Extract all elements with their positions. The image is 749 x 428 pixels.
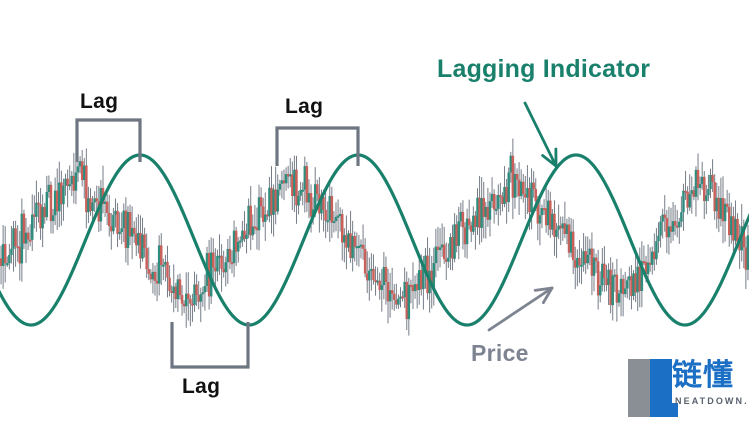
- chart-canvas: Lagging Indicator Lag Lag Lag Price 链懂 N…: [0, 0, 749, 428]
- annotation-arrow-1: [525, 103, 556, 166]
- lag-brackets: [77, 120, 358, 367]
- logo-wordmark: 链懂: [672, 360, 734, 392]
- logo-domain-text: NEATDOWN.COM: [675, 396, 749, 406]
- lagging-indicator-line: [0, 155, 749, 325]
- lagging-indicator-title: Lagging Indicator: [437, 55, 650, 84]
- price-candlestick-series: [0, 139, 749, 336]
- price-label: Price: [471, 340, 529, 367]
- lag-bracket-3: [172, 322, 248, 367]
- lag-label-top-middle: Lag: [285, 95, 323, 119]
- lag-label-top-left: Lag: [80, 90, 118, 114]
- lag-label-bottom-middle: Lag: [182, 375, 220, 399]
